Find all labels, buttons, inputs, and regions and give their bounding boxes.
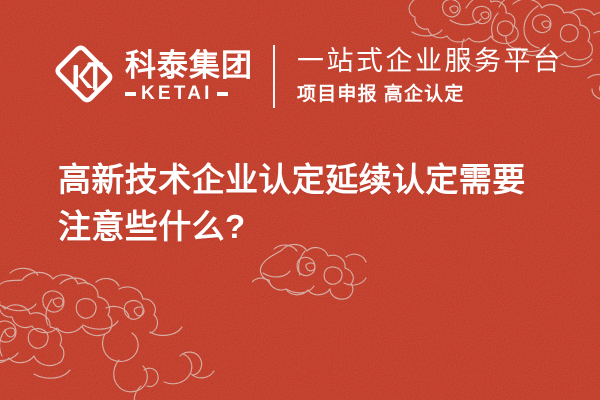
logo-company-name-cn: 科泰集团: [125, 49, 253, 83]
logo-en-row: KETAI: [125, 84, 253, 104]
tagline: 一站式企业服务平台 项目申报 高企认定: [297, 40, 563, 112]
page-title: 高新技术企业认定延续认定需要注意些什么?: [58, 156, 558, 250]
vertical-divider-icon: [273, 45, 275, 108]
ketai-diamond-kt-monogram-icon: [52, 44, 116, 108]
brand-header: 科泰集团 KETAI 一站式企业服务平台 项目申报 高企认定: [52, 34, 563, 118]
logo-left-dash-icon: [125, 92, 136, 96]
logo: 科泰集团 KETAI: [52, 40, 253, 112]
logo-company-name-en: KETAI: [141, 84, 213, 104]
tagline-main: 一站式企业服务平台: [297, 45, 563, 77]
tagline-sub: 项目申报 高企认定: [297, 83, 563, 107]
chinese-auspicious-cloud-icon: [0, 262, 264, 400]
article-cover-banner: 科泰集团 KETAI 一站式企业服务平台 项目申报 高企认定 高新技术企业认定延…: [0, 0, 600, 400]
logo-wordmark: 科泰集团 KETAI: [125, 49, 253, 104]
logo-right-dash-icon: [217, 92, 228, 96]
